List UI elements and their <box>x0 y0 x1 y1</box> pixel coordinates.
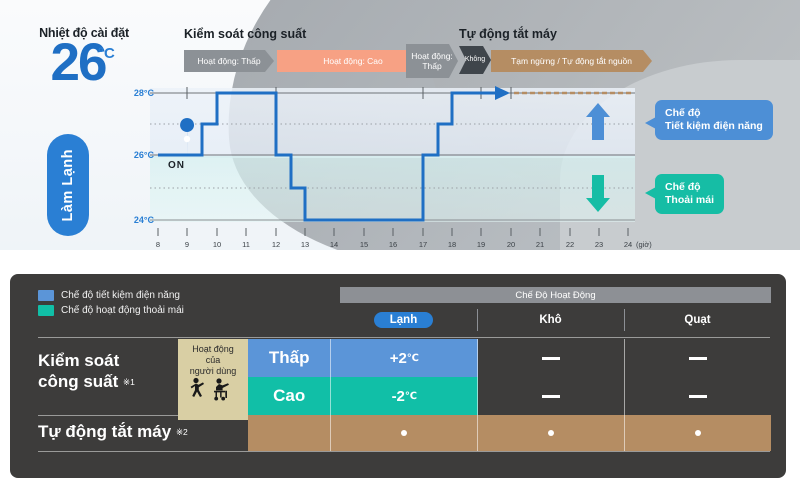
legend-item-comfort: Chế độ hoạt động thoải mái <box>38 305 184 316</box>
cell-level-low: Thấp <box>248 339 331 377</box>
cell-auto-dry <box>478 415 625 451</box>
x-tick-14: 14 <box>324 240 344 249</box>
row-note-auto: ※2 <box>176 427 188 437</box>
cell-low-cool-unit: ℃ <box>407 353 419 364</box>
mode-value-grid: Thấp +2℃ Cao -2℃ <box>248 339 771 451</box>
row-label-auto-off: Tự động tắt máy ※2 <box>38 422 188 442</box>
cell-high-fan <box>625 377 771 415</box>
cell-low-cool: +2℃ <box>331 339 478 377</box>
x-tick-22: 22 <box>560 240 580 249</box>
cell-low-cool-value: +2 <box>390 350 407 367</box>
eco-callout-line2: Tiết kiệm điện năng <box>665 120 763 133</box>
x-tick-18: 18 <box>442 240 462 249</box>
x-tick-10: 10 <box>207 240 227 249</box>
row-note-power: ※1 <box>123 377 135 387</box>
row-label-power-control: Kiểm soát công suất ※1 <box>38 350 135 393</box>
x-tick-23: 23 <box>589 240 609 249</box>
op-mode-label-fan: Quạt <box>684 314 710 326</box>
people-activity-icon <box>185 377 241 401</box>
cell-high-cool-value: -2 <box>392 388 405 405</box>
temperature-step-line <box>158 93 495 220</box>
x-tick-16: 16 <box>383 240 403 249</box>
op-mode-label-cool: Lạnh <box>374 312 433 328</box>
legend-swatch-comfort <box>38 305 54 316</box>
line-arrow-head <box>495 86 510 100</box>
x-tick-11: 11 <box>236 240 256 249</box>
eco-callout: Chế độ Tiết kiệm điện năng <box>655 100 773 140</box>
op-mode-column-headers: Lạnh Khô Quạt <box>330 307 771 333</box>
table-separator-bottom <box>38 451 770 452</box>
x-tick-13: 13 <box>295 240 315 249</box>
on-label: ON <box>168 160 185 171</box>
x-axis-ticks <box>158 228 628 236</box>
y-tick-24: 24°C <box>120 215 154 225</box>
x-tick-19: 19 <box>471 240 491 249</box>
mode-settings-panel: Chế độ tiết kiệm điện năng Chế độ hoạt đ… <box>10 274 786 478</box>
cell-high-cool: -2℃ <box>331 377 478 415</box>
x-tick-9: 9 <box>177 240 197 249</box>
panel-legend: Chế độ tiết kiệm điện năng Chế độ hoạt đ… <box>38 290 184 320</box>
op-mode-col-fan[interactable]: Quạt <box>624 307 771 333</box>
x-tick-20: 20 <box>501 240 521 249</box>
row-label-power-line2: công suất <box>38 372 118 391</box>
comfort-callout: Chế độ Thoải mái <box>655 174 724 214</box>
comfort-down-arrow-icon <box>586 175 610 212</box>
cell-level-high: Cao <box>248 377 331 415</box>
cell-auto-spacer <box>248 415 331 451</box>
op-mode-col-dry[interactable]: Khô <box>477 307 624 333</box>
x-tick-12: 12 <box>266 240 286 249</box>
eco-callout-line1: Chế độ <box>665 107 763 120</box>
op-mode-col-cool[interactable]: Lạnh <box>330 307 477 333</box>
op-mode-header: Chế Độ Hoạt Động <box>340 287 771 303</box>
cell-low-fan <box>625 339 771 377</box>
legend-item-eco: Chế độ tiết kiệm điện năng <box>38 290 184 301</box>
on-pin-icon <box>180 118 194 158</box>
x-axis-unit-label: (giờ) <box>636 240 652 249</box>
comfort-callout-line2: Thoải mái <box>665 194 714 207</box>
op-mode-label-dry: Khô <box>539 314 561 326</box>
comfort-callout-line1: Chế độ <box>665 181 714 194</box>
legend-swatch-eco <box>38 290 54 301</box>
cell-high-dry <box>478 377 625 415</box>
eco-up-arrow-icon <box>586 103 610 140</box>
y-tick-26: 26°C <box>120 150 154 160</box>
table-separator-top <box>38 337 770 338</box>
cell-low-dry <box>478 339 625 377</box>
cell-high-cool-unit: ℃ <box>405 391 417 402</box>
table-row-low: Thấp +2℃ <box>248 339 771 377</box>
row-label-power-line1: Kiểm soát <box>38 350 135 371</box>
x-tick-17: 17 <box>413 240 433 249</box>
user-activity-line3: người dùng <box>190 366 236 377</box>
infographic-root: Nhiệt độ cài đặt 26 °C Làm Lạnh Kiểm soá… <box>0 0 800 500</box>
user-activity-line1: Hoạt động <box>192 344 234 355</box>
y-tick-28: 28°C <box>120 88 154 98</box>
table-row-auto-off <box>248 415 771 451</box>
legend-label-eco: Chế độ tiết kiệm điện năng <box>61 290 180 301</box>
cell-auto-cool <box>331 415 478 451</box>
table-row-high: Cao -2℃ <box>248 377 771 415</box>
legend-label-comfort: Chế độ hoạt động thoải mái <box>61 305 184 316</box>
user-activity-line2: của <box>206 355 221 366</box>
user-activity-cell: Hoạt động của người dùng <box>178 339 248 420</box>
x-tick-15: 15 <box>354 240 374 249</box>
x-tick-24: 24 <box>618 240 638 249</box>
x-tick-21: 21 <box>530 240 550 249</box>
row-label-auto-text: Tự động tắt máy <box>38 422 171 441</box>
x-tick-8: 8 <box>148 240 168 249</box>
cell-auto-fan <box>625 415 771 451</box>
